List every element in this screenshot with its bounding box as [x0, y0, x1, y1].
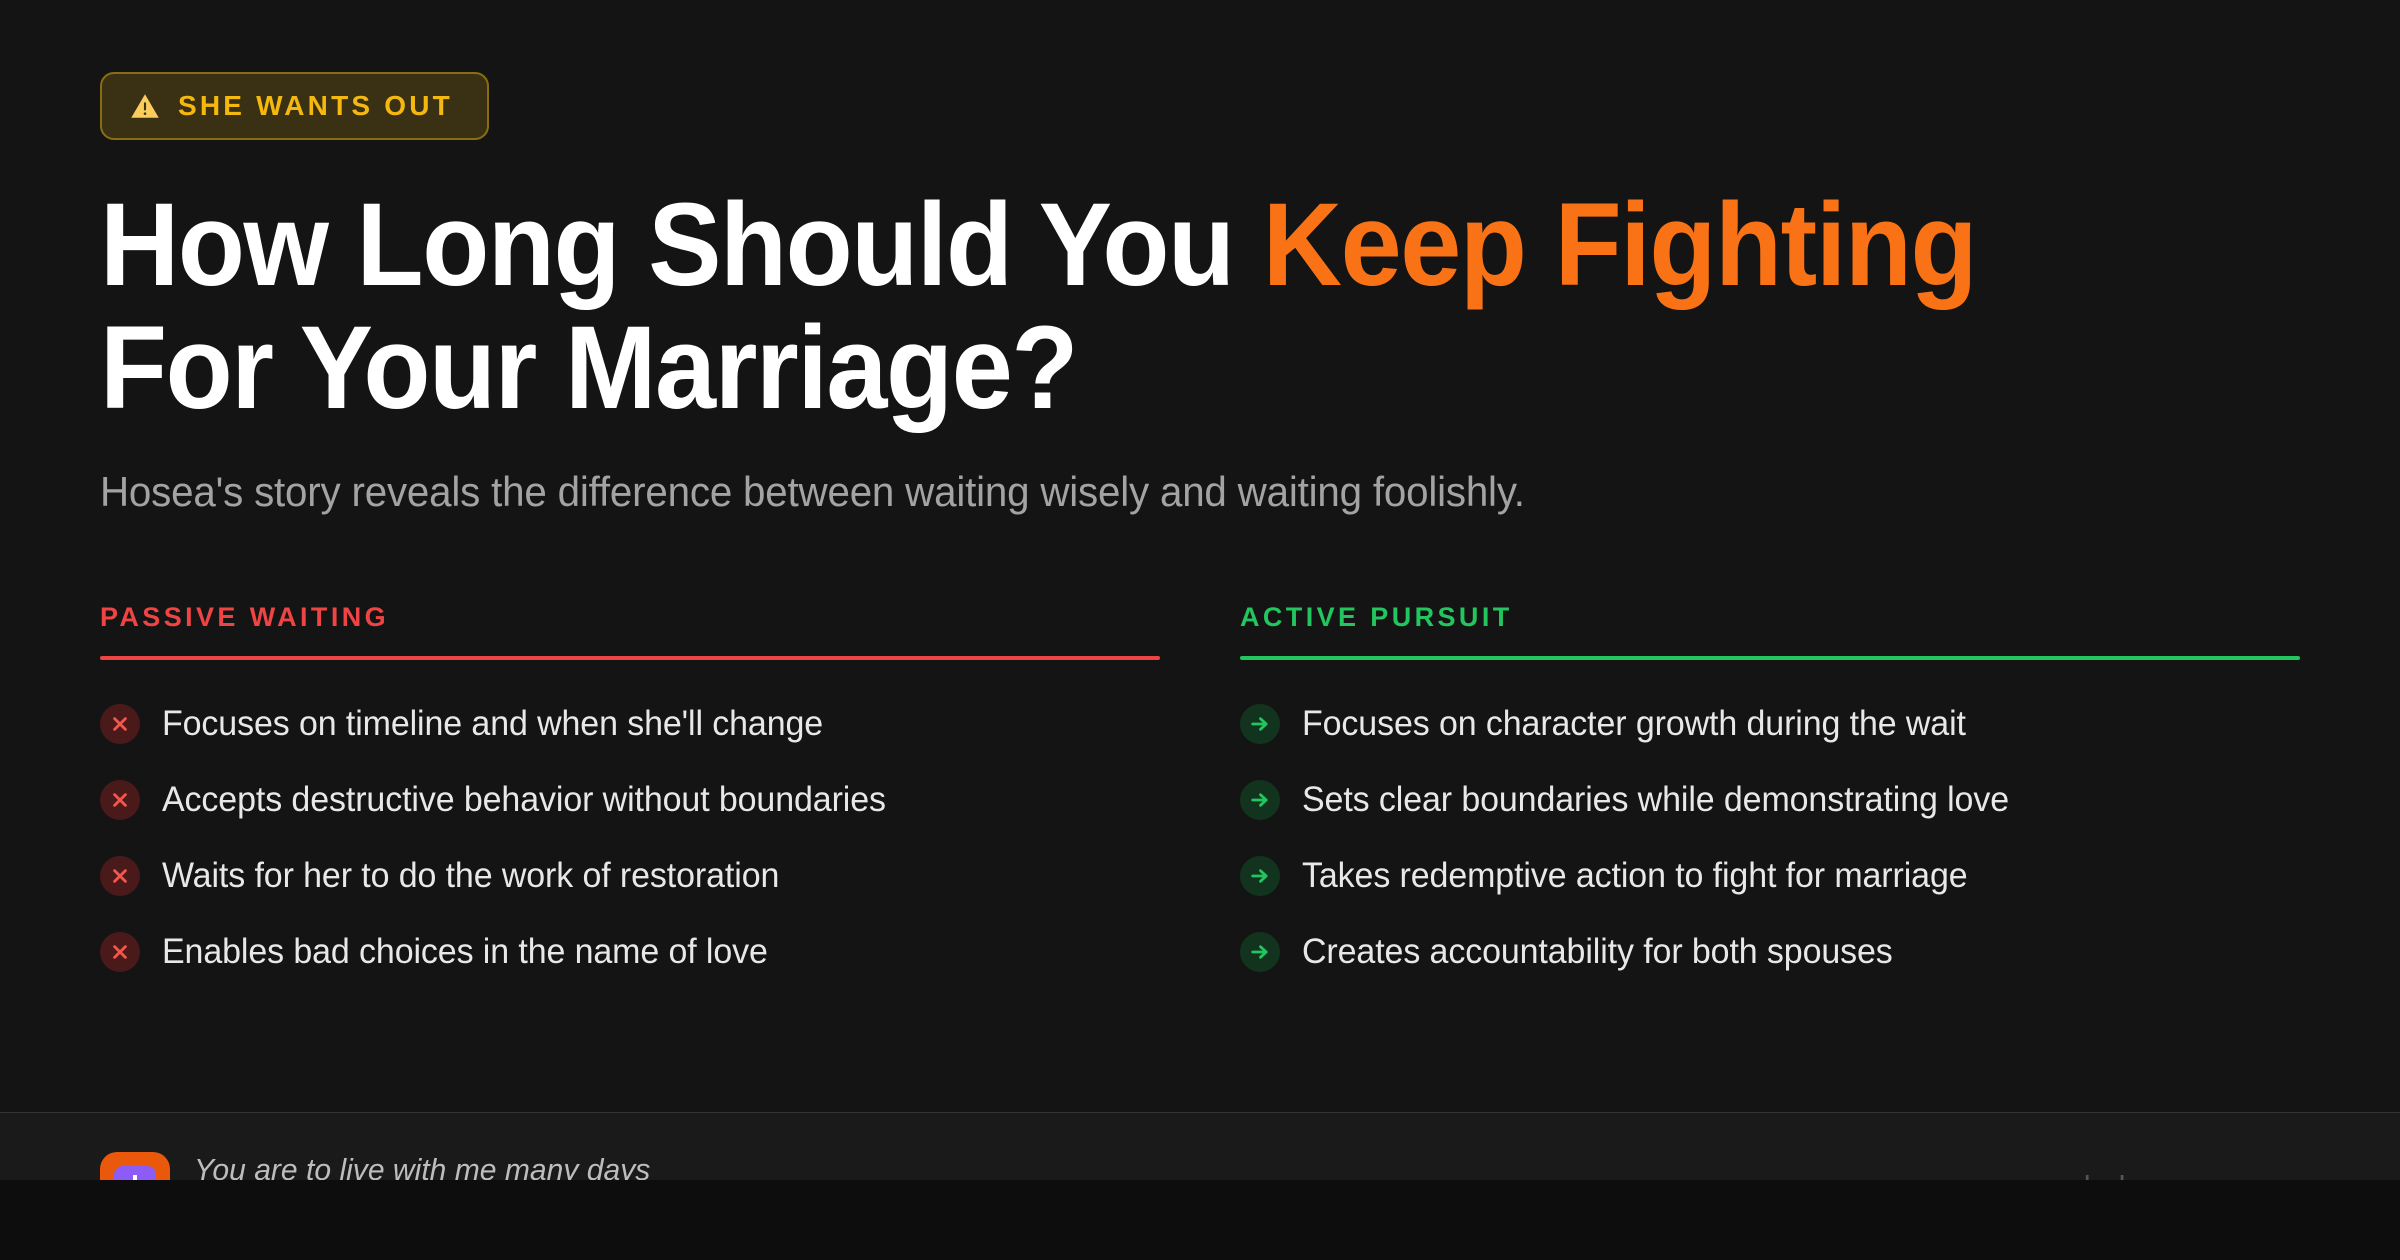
list-item-label: Focuses on character growth during the w…: [1302, 703, 1966, 745]
x-circle-icon: [100, 780, 140, 820]
page-subtitle: Hosea's story reveals the difference bet…: [100, 465, 2212, 520]
x-circle-icon: [100, 704, 140, 744]
x-circle-icon: [100, 856, 140, 896]
page-title: How Long Should You Keep Fighting For Yo…: [100, 184, 2025, 429]
slide-card: SHE WANTS OUT How Long Should You Keep F…: [0, 0, 2400, 1260]
headline-part-1: How Long Should You: [100, 179, 1263, 311]
column-title-passive: PASSIVE WAITING: [100, 604, 1160, 631]
warning-triangle-icon: [130, 91, 160, 121]
list-item: Enables bad choices in the name of love: [100, 914, 1160, 990]
arrow-right-circle-icon: [1240, 704, 1280, 744]
list-item-label: Accepts destructive behavior without bou…: [162, 779, 886, 821]
column-list-passive: Focuses on timeline and when she'll chan…: [100, 686, 1160, 990]
status-badge-label: SHE WANTS OUT: [178, 92, 453, 120]
arrow-right-circle-icon: [1240, 856, 1280, 896]
headline-accent: Keep Fighting: [1263, 179, 1976, 311]
list-item-label: Waits for her to do the work of restorat…: [162, 855, 779, 897]
list-item-label: Focuses on timeline and when she'll chan…: [162, 703, 823, 745]
column-passive-waiting: PASSIVE WAITING Focuses on timeline and …: [100, 604, 1160, 990]
list-item-label: Enables bad choices in the name of love: [162, 931, 768, 973]
column-list-active: Focuses on character growth during the w…: [1240, 686, 2300, 990]
list-item: Sets clear boundaries while demonstratin…: [1240, 762, 2300, 838]
list-item: Focuses on character growth during the w…: [1240, 686, 2300, 762]
list-item: Focuses on timeline and when she'll chan…: [100, 686, 1160, 762]
list-item-label: Takes redemptive action to fight for mar…: [1302, 855, 1968, 897]
arrow-right-circle-icon: [1240, 932, 1280, 972]
column-rule-passive: [100, 656, 1160, 660]
list-item: Creates accountability for both spouses: [1240, 914, 2300, 990]
column-title-active: ACTIVE PURSUIT: [1240, 604, 2300, 631]
list-item-label: Sets clear boundaries while demonstratin…: [1302, 779, 2009, 821]
headline-part-2: For Your Marriage?: [100, 302, 1077, 434]
arrow-right-circle-icon: [1240, 780, 1280, 820]
list-item: Waits for her to do the work of restorat…: [100, 838, 1160, 914]
status-badge: SHE WANTS OUT: [100, 72, 489, 140]
x-circle-icon: [100, 932, 140, 972]
list-item: Takes redemptive action to fight for mar…: [1240, 838, 2300, 914]
bottom-strip: [0, 1180, 2400, 1260]
comparison-columns: PASSIVE WAITING Focuses on timeline and …: [100, 604, 2300, 990]
column-active-pursuit: ACTIVE PURSUIT Focuses on character grow…: [1240, 604, 2300, 990]
slide-body: SHE WANTS OUT How Long Should You Keep F…: [0, 0, 2400, 1112]
list-item: Accepts destructive behavior without bou…: [100, 762, 1160, 838]
list-item-label: Creates accountability for both spouses: [1302, 931, 1893, 973]
column-rule-active: [1240, 656, 2300, 660]
